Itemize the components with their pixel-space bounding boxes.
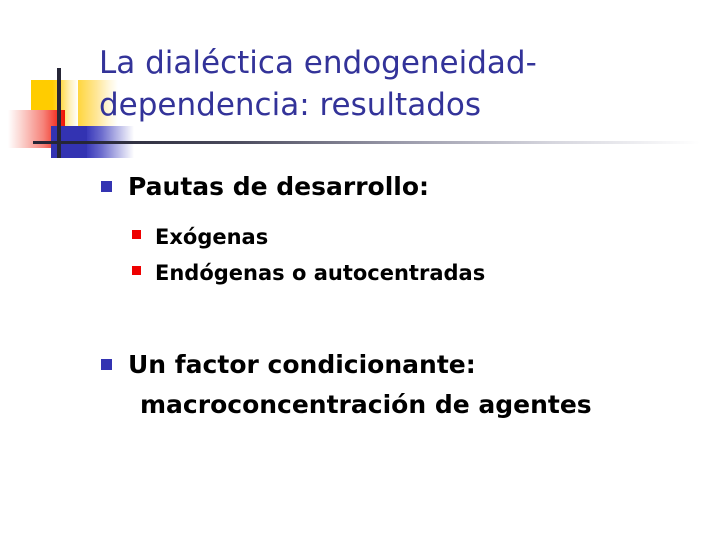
list-item: Endógenas o autocentradas [132,258,485,288]
list-item-label: Exógenas [155,222,268,252]
presentation-slide: La dialéctica endogeneidad- dependencia:… [0,0,720,540]
blue-square-bullet-icon [101,359,112,370]
list-item-label: Un factor condicionante: [128,348,476,382]
blue-square-bullet-icon [101,181,112,192]
list-item: Un factor condicionante: [101,348,476,382]
list-item-label: Pautas de desarrollo: [128,170,429,204]
list-item-label: Endógenas o autocentradas [155,258,485,288]
red-square-bullet-icon [132,230,141,239]
slide-body: Pautas de desarrollo: Exógenas Endógenas… [0,0,720,540]
red-square-bullet-icon [132,266,141,275]
list-item: Pautas de desarrollo: [101,170,429,204]
list-item: Exógenas [132,222,268,252]
list-item-continuation: macroconcentración de agentes [140,388,592,422]
